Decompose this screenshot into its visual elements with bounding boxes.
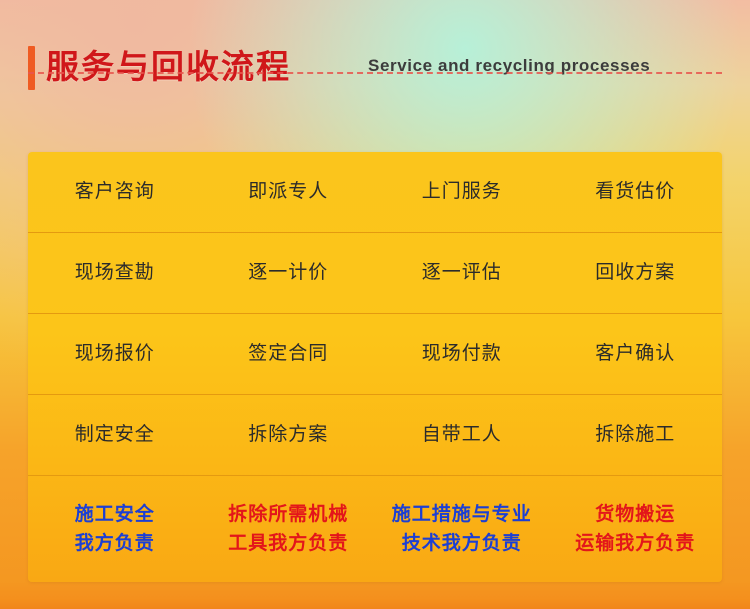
cell-line-1: 拆除施工 (549, 421, 723, 450)
title-accent-bar (28, 46, 35, 90)
cell-line-1: 客户确认 (549, 340, 723, 369)
cell-line-2: 工具我方负责 (202, 529, 376, 558)
table-cell: 货物搬运 运输我方负责 (549, 500, 723, 559)
cell-line-1: 施工措施与专业 (375, 500, 549, 529)
table-cell: 上门服务 (375, 178, 549, 207)
table-row-highlight: 施工安全 我方负责 拆除所需机械 工具我方负责 施工措施与专业 技术我方负责 货… (28, 476, 722, 582)
table-cell: 看货估价 (549, 178, 723, 207)
cell-line-1: 现场查勘 (28, 259, 202, 288)
cell-line-1: 逐一评估 (375, 259, 549, 288)
header-divider (28, 72, 722, 74)
cell-line-1: 签定合同 (202, 340, 376, 369)
cell-line-1: 自带工人 (375, 421, 549, 450)
table-row: 现场查勘 逐一计价 逐一评估 回收方案 (28, 233, 722, 314)
table-row: 现场报价 签定合同 现场付款 客户确认 (28, 314, 722, 395)
cell-line-1: 施工安全 (28, 500, 202, 529)
table-cell: 施工安全 我方负责 (28, 500, 202, 559)
cell-line-1: 即派专人 (202, 178, 376, 207)
table-cell: 签定合同 (202, 340, 376, 369)
cell-line-1: 上门服务 (375, 178, 549, 207)
table-cell: 客户确认 (549, 340, 723, 369)
cell-line-1: 货物搬运 (549, 500, 723, 529)
table-cell: 客户咨询 (28, 178, 202, 207)
table-cell: 逐一计价 (202, 259, 376, 288)
cell-line-1: 现场付款 (375, 340, 549, 369)
cell-line-1: 拆除所需机械 (202, 500, 376, 529)
table-cell: 现场报价 (28, 340, 202, 369)
table-cell: 即派专人 (202, 178, 376, 207)
process-table: 客户咨询 即派专人 上门服务 看货估价 现场查勘 逐一计价 逐一评估 回收方案 … (28, 152, 722, 582)
table-cell: 逐一评估 (375, 259, 549, 288)
bottom-gradient (0, 582, 750, 609)
table-cell: 拆除施工 (549, 421, 723, 450)
table-cell: 拆除所需机械 工具我方负责 (202, 500, 376, 559)
page-root: 服务与回收流程 Service and recycling processes … (0, 0, 750, 609)
table-cell: 现场付款 (375, 340, 549, 369)
cell-line-1: 现场报价 (28, 340, 202, 369)
cell-line-1: 逐一计价 (202, 259, 376, 288)
table-cell: 回收方案 (549, 259, 723, 288)
cell-line-2: 运输我方负责 (549, 529, 723, 558)
page-title: 服务与回收流程 (46, 40, 291, 88)
table-cell: 拆除方案 (202, 421, 376, 450)
cell-line-1: 回收方案 (549, 259, 723, 288)
cell-line-1: 制定安全 (28, 421, 202, 450)
cell-line-1: 客户咨询 (28, 178, 202, 207)
cell-line-1: 拆除方案 (202, 421, 376, 450)
table-cell: 施工措施与专业 技术我方负责 (375, 500, 549, 559)
cell-line-1: 看货估价 (549, 178, 723, 207)
table-row: 客户咨询 即派专人 上门服务 看货估价 (28, 152, 722, 233)
table-cell: 自带工人 (375, 421, 549, 450)
table-cell: 现场查勘 (28, 259, 202, 288)
cell-line-2: 技术我方负责 (375, 529, 549, 558)
table-cell: 制定安全 (28, 421, 202, 450)
table-row: 制定安全 拆除方案 自带工人 拆除施工 (28, 395, 722, 476)
cell-line-2: 我方负责 (28, 529, 202, 558)
